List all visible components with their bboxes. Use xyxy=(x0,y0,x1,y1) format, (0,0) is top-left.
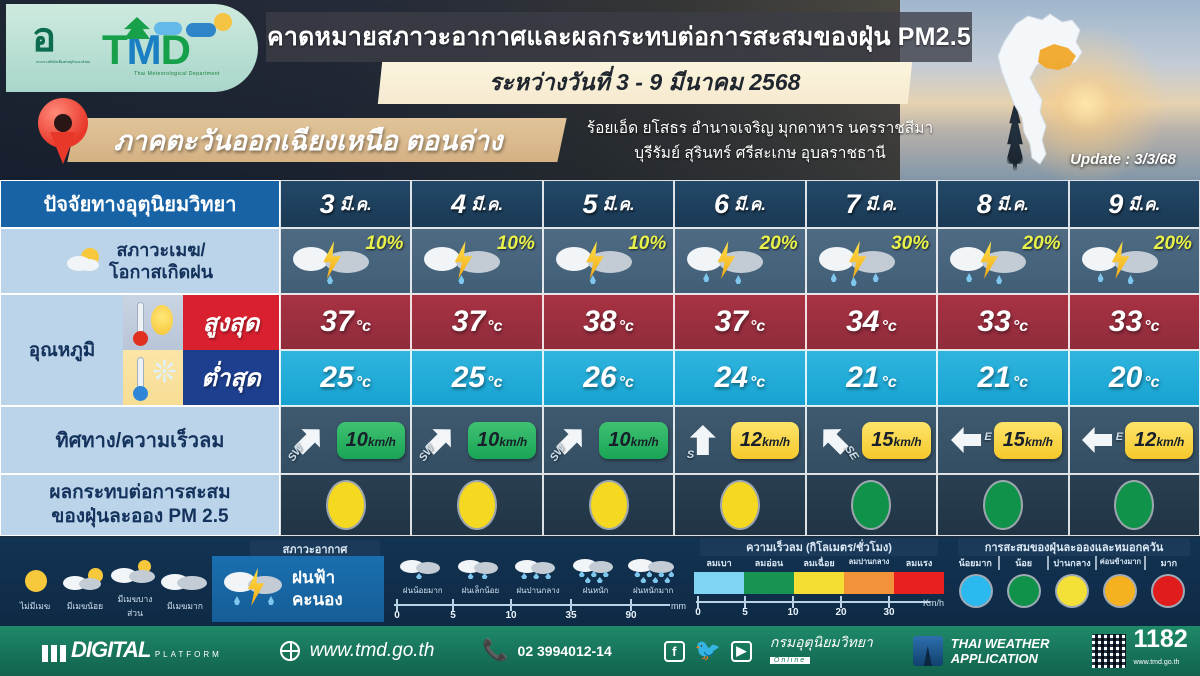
temp-min-value: 25 xyxy=(452,361,485,394)
date-range-text: ระหว่างวันที่ 3 - 9 มีนาคม 2568 xyxy=(489,65,800,101)
row-label-wind: ทิศทาง/ความเร็วลม xyxy=(0,406,280,474)
pm25-status-dot xyxy=(328,482,364,528)
wind-speed-badge: 10km/h xyxy=(468,422,536,459)
wind-speed-badge: 12km/h xyxy=(731,422,799,459)
rain-probability: 20% xyxy=(1023,233,1061,255)
phone-contact[interactable]: 📞 02 3994012-14 xyxy=(482,639,611,663)
pm25-cell xyxy=(806,474,937,536)
legend-item-partly-cloudy: มีเมฆบางส่วน xyxy=(111,559,159,620)
temp-min-cell: 26°c xyxy=(543,350,674,406)
temp-max-value: 37 xyxy=(452,305,485,338)
wind-direction-arrow-icon: E xyxy=(944,417,990,463)
pm25-status-dot xyxy=(591,482,627,528)
legend-item-rain-heavy: ฝนหนัก xyxy=(567,556,625,597)
weather-infographic: อ กระทรวงดิจิทัลเพื่อเศรษฐกิจและสังคม TM… xyxy=(0,0,1200,676)
temp-max-value: 37 xyxy=(320,305,353,338)
pm25-cell xyxy=(1069,474,1200,536)
wind-speed-badge: 15km/h xyxy=(862,422,930,459)
pm25-status-dot xyxy=(459,482,495,528)
day-month: มี.ค. xyxy=(471,191,503,218)
wind-tick: 30 xyxy=(883,607,894,618)
wind-direction-label: E xyxy=(1116,431,1123,443)
day-header-cell: 7มี.ค. xyxy=(806,180,937,228)
legend-item-clear: ไม่มีเมฆ xyxy=(11,566,59,613)
wind-direction-arrow-icon: E xyxy=(1075,417,1121,463)
row-label-cloud: สภาวะเมฆ/โอกาสเกิดฝน xyxy=(0,228,280,294)
rain-tick: 10 xyxy=(505,610,516,621)
temp-max-value: 34 xyxy=(846,305,879,338)
wind-direction-arrow-icon: SW xyxy=(418,417,464,463)
legend-wind-label: ลมเบา xyxy=(694,556,744,570)
bars-icon xyxy=(42,645,66,662)
legend-pm-label: ค่อนข้างมาก xyxy=(1095,556,1143,570)
temp-max-row: 37°c 37°c 38°c 37°c 34°c 33°c 33°c xyxy=(0,294,1200,350)
hotline-block: 1182www.tmd.go.th xyxy=(1092,627,1188,675)
pm25-cell xyxy=(280,474,411,536)
rain-probability: 20% xyxy=(1154,233,1192,255)
update-timestamp: Update : 3/3/68 xyxy=(1070,151,1176,168)
cloud-cell: 20% xyxy=(674,228,805,294)
wind-cell: S 12km/h xyxy=(674,406,805,474)
cloud-icon xyxy=(186,23,216,37)
temp-max-cell: 33°c xyxy=(937,294,1068,350)
app-name: THAI WEATHERAPPLICATION xyxy=(951,636,1050,666)
day-number: 7 xyxy=(845,189,860,220)
tmd-logo: TMD Thai Meteorological Department xyxy=(102,11,252,85)
header: อ กระทรวงดิจิทัลเพื่อเศรษฐกิจและสังคม TM… xyxy=(0,0,1200,180)
twitter-icon[interactable]: 🐦 xyxy=(695,639,721,663)
wind-cell: E 12km/h xyxy=(1069,406,1200,474)
rain-probability: 10% xyxy=(497,233,535,255)
ministry-logo-glyph: อ xyxy=(32,16,94,60)
sun-icon xyxy=(214,13,232,31)
day-header-cell: 5มี.ค. xyxy=(543,180,674,228)
rain-unit: mm xyxy=(671,601,686,611)
rain-probability: 10% xyxy=(365,233,403,255)
legend-pm-label: น้อยมาก xyxy=(952,556,998,570)
cloud-cell: 10% xyxy=(543,228,674,294)
row-label-pm25: ผลกระทบต่อการสะสมของฝุ่นละออง PM 2.5 xyxy=(0,474,280,536)
wind-scale-axis: 0 5 10 20 30 Km/h xyxy=(694,596,944,618)
day-number: 8 xyxy=(977,189,992,220)
forecast-table: ปัจจัยทางอุตุนิยมวิทยา 3มี.ค. 4มี.ค. 5มี… xyxy=(0,180,1200,538)
legend-thunderstorm: ฝนฟ้าคะนอง xyxy=(212,556,384,622)
province-line-1: ร้อยเอ็ด ยโสธร อำนาจเจริญ มุกดาหาร นครรา… xyxy=(560,116,960,141)
temp-max-cell: 34°c xyxy=(806,294,937,350)
temp-max-cell: 38°c xyxy=(543,294,674,350)
cloud-rain-icon xyxy=(624,556,682,582)
rain-tick: 35 xyxy=(565,610,576,621)
day-header-cell: 9มี.ค. xyxy=(1069,180,1200,228)
row-label-factor: ปัจจัยทางอุตุนิยมวิทยา xyxy=(0,180,280,228)
rain-probability: 20% xyxy=(760,233,798,255)
phone-icon: 📞 xyxy=(482,639,508,663)
day-month: มี.ค. xyxy=(603,191,635,218)
temp-max-cell: 33°c xyxy=(1069,294,1200,350)
legend-pm-dot xyxy=(1057,576,1087,606)
temp-max-value: 38 xyxy=(583,305,616,338)
pm25-status-dot xyxy=(1116,482,1152,528)
temp-max-value: 33 xyxy=(977,305,1010,338)
cloud-rain-icon xyxy=(567,556,625,582)
temp-min-value: 20 xyxy=(1109,361,1142,394)
cloud-rain-icon xyxy=(394,556,452,582)
digital-platform-text: DIGITAL xyxy=(71,637,150,662)
cloud-cell: 10% xyxy=(280,228,411,294)
rain-tick: 0 xyxy=(394,610,400,621)
cloud-rain-icon xyxy=(452,556,510,582)
temp-max-cell: 37°c xyxy=(674,294,805,350)
wind-direction-arrow-icon: SW xyxy=(549,417,595,463)
temp-min-value: 24 xyxy=(715,361,748,394)
temp-min-cell: 21°c xyxy=(806,350,937,406)
cloud-rain-icon xyxy=(509,556,567,582)
ministry-logo-subtext: กระทรวงดิจิทัลเพื่อเศรษฐกิจและสังคม xyxy=(32,60,94,65)
wind-cell: SW 10km/h xyxy=(543,406,674,474)
legend-caption-wind: ความเร็วลม (กิโลเมตร/ชั่วโมง) xyxy=(700,538,938,556)
legend-item-rain-veryheavy: ฝนหนักมาก xyxy=(624,556,682,597)
cloud-icon xyxy=(154,22,182,35)
pm25-status-dot xyxy=(722,482,758,528)
day-number: 6 xyxy=(714,189,729,220)
cloudy-icon xyxy=(161,566,209,596)
thailand-map-svg xyxy=(984,8,1104,168)
day-month: มี.ค. xyxy=(997,191,1029,218)
day-month: มี.ค. xyxy=(734,191,766,218)
pm25-status-dot xyxy=(853,482,889,528)
legend-pm-dot xyxy=(1153,576,1183,606)
legend-caption-pm25: การสะสมของฝุ่นละอองและหมอกควัน xyxy=(958,538,1190,556)
rain-probability: 30% xyxy=(891,233,929,255)
temp-min-cell: 21°c xyxy=(937,350,1068,406)
legend-item-cloudy: มีเมฆมาก xyxy=(161,566,209,613)
temp-min-cell: 25°c xyxy=(280,350,411,406)
temp-min-value: 26 xyxy=(583,361,616,394)
legend-wind-label: ลมอ่อน xyxy=(744,556,794,570)
legend-wind-scale: ลมเบา ลมอ่อน ลมเฉื่อย ลมปานกลาง ลมแรง 0 … xyxy=(694,556,944,622)
wind-direction-label: S xyxy=(687,449,694,461)
pm25-row: ผลกระทบต่อการสะสมของฝุ่นละออง PM 2.5 xyxy=(0,474,1200,536)
legend-wind-label: ลมปานกลาง xyxy=(844,556,894,570)
legend-wind-label: ลมแรง xyxy=(894,556,944,570)
wind-speed-badge: 10km/h xyxy=(337,422,405,459)
sun-icon xyxy=(11,566,59,596)
wind-speed-badge: 15km/h xyxy=(994,422,1062,459)
wind-tick: 5 xyxy=(742,607,748,618)
province-line-2: บุรีรัมย์ สุรินทร์ ศรีสะเกษ อุบลราชธานี xyxy=(560,141,960,166)
day-month: มี.ค. xyxy=(865,191,897,218)
phone-number: 02 3994012-14 xyxy=(518,643,612,659)
day-month: มี.ค. xyxy=(340,191,372,218)
temp-min-cell: 25°c xyxy=(411,350,542,406)
logo-pill: อ กระทรวงดิจิทัลเพื่อเศรษฐกิจและสังคม TM… xyxy=(6,4,258,92)
temp-min-value: 21 xyxy=(846,361,879,394)
cloud-cell: 20% xyxy=(1069,228,1200,294)
pm25-cell xyxy=(411,474,542,536)
wind-tick: 10 xyxy=(787,607,798,618)
youtube-icon[interactable]: ▶ xyxy=(731,641,752,662)
facebook-icon[interactable]: f xyxy=(664,641,685,662)
cloud-cell: 30% xyxy=(806,228,937,294)
wind-cell: SE 15km/h xyxy=(806,406,937,474)
legend-wind-label: ลมเฉื่อย xyxy=(794,556,844,570)
legend-pm-label: ปานกลาง xyxy=(1047,556,1095,570)
cloud-rain-row: สภาวะเมฆ/โอกาสเกิดฝน 10% 10% xyxy=(0,228,1200,294)
partly-cloudy-icon xyxy=(111,559,159,589)
thunderstorm-icon xyxy=(224,564,284,614)
row-label-cloud-text: สภาวะเมฆ/โอกาสเกิดฝน xyxy=(109,239,213,283)
legend-thunderstorm-label: ฝนฟ้าคะนอง xyxy=(292,567,343,611)
rain-probability: 10% xyxy=(628,233,666,255)
partly-cloudy-icon xyxy=(67,246,101,276)
temp-min-value: 25 xyxy=(320,361,353,394)
wind-tick: 0 xyxy=(695,607,701,618)
day-number: 9 xyxy=(1108,189,1123,220)
pm25-cell xyxy=(543,474,674,536)
legend-sky-conditions: ไม่มีเมฆ มีเมฆน้อย มีเมฆบางส่วน xyxy=(10,558,210,620)
wind-row: ทิศทาง/ความเร็วลม SW 10km/h SW 10km/h SW… xyxy=(0,406,1200,474)
wind-tick: 20 xyxy=(835,607,846,618)
globe-icon xyxy=(280,641,300,661)
wind-direction-label: E xyxy=(984,431,991,443)
day-number: 5 xyxy=(583,189,598,220)
legend-pm-dot xyxy=(961,576,991,606)
day-month: มี.ค. xyxy=(1128,191,1160,218)
tmd-online-label: กรมอุตุนิยมวิทยาOnline xyxy=(770,635,873,668)
wind-speed-badge: 10km/h xyxy=(599,422,667,459)
temp-min-value: 21 xyxy=(977,361,1010,394)
date-range-bar: ระหว่างวันที่ 3 - 9 มีนาคม 2568 xyxy=(378,62,912,104)
legend-item-rain-moderate: ฝนปานกลาง xyxy=(509,556,567,597)
legend-item-rain-light: ฝนเล็กน้อย xyxy=(452,556,510,597)
temp-max-value: 33 xyxy=(1109,305,1142,338)
wind-direction-label: SW xyxy=(285,442,305,463)
region-name: ภาคตะวันออกเฉียงเหนือ ตอนล่าง xyxy=(114,119,502,162)
page-title-bar: คาดหมายสภาวะอากาศและผลกระทบต่อการสะสมของ… xyxy=(266,12,972,62)
footer-bar: DIGITAL PLATFORM www.tmd.go.th 📞 02 3994… xyxy=(0,626,1200,676)
cloud-cell: 20% xyxy=(937,228,1068,294)
day-header-cell: 3มี.ค. xyxy=(280,180,411,228)
legend-rain-scale: ฝนน้อยมาก ฝนเล็กน้อย ฝนปานกลาง xyxy=(390,556,686,622)
province-list: ร้อยเอ็ด ยโสธร อำนาจเจริญ มุกดาหาร นครรา… xyxy=(560,116,960,172)
wind-unit: Km/h xyxy=(923,598,944,608)
wind-direction-arrow-icon: SE xyxy=(812,417,858,463)
day-header-cell: 8มี.ค. xyxy=(937,180,1068,228)
pm25-status-dot xyxy=(985,482,1021,528)
pm25-cell xyxy=(937,474,1068,536)
pm25-cell xyxy=(674,474,805,536)
rain-tick: 90 xyxy=(625,610,636,621)
wind-direction-arrow-icon: SW xyxy=(287,417,333,463)
legend-item-rain-verylight: ฝนน้อยมาก xyxy=(394,556,452,597)
legend-bar: สภาวะอากาศ ไม่มีเมฆ มีเมฆน้อย มีเมฆบางส่… xyxy=(0,538,1200,626)
ministry-logo: อ กระทรวงดิจิทัลเพื่อเศรษฐกิจและสังคม xyxy=(32,16,94,80)
temp-min-cell: 20°c xyxy=(1069,350,1200,406)
temp-max-cell: 37°c xyxy=(280,294,411,350)
location-pin-icon xyxy=(38,98,88,164)
legend-item-few-clouds: มีเมฆน้อย xyxy=(61,566,109,613)
wind-cell: SW 10km/h xyxy=(411,406,542,474)
sun-small-cloud-icon xyxy=(61,566,109,596)
wind-color-bars xyxy=(694,572,944,594)
qr-code-icon xyxy=(1092,634,1126,668)
legend-pm-label: น้อย xyxy=(998,556,1046,570)
legend-pm-label: มาก xyxy=(1144,556,1192,570)
app-icon xyxy=(913,636,943,666)
hotline-number: 1182www.tmd.go.th xyxy=(1134,627,1188,675)
table-header-row: ปัจจัยทางอุตุนิยมวิทยา 3มี.ค. 4มี.ค. 5มี… xyxy=(0,180,1200,228)
wind-speed-badge: 12km/h xyxy=(1125,422,1193,459)
tree-icon xyxy=(124,17,150,39)
rain-tick: 5 xyxy=(450,610,456,621)
thailand-map xyxy=(984,8,1104,168)
digital-platform-subtext: PLATFORM xyxy=(155,650,222,659)
day-header-cell: 4มี.ค. xyxy=(411,180,542,228)
legend-pm-dot xyxy=(1009,576,1039,606)
temp-min-row: 25°c 25°c 26°c 24°c 21°c 21°c 20°c xyxy=(0,350,1200,406)
day-header-cell: 6มี.ค. xyxy=(674,180,805,228)
cloud-cell: 10% xyxy=(411,228,542,294)
legend-pm-dot xyxy=(1105,576,1135,606)
website-link[interactable]: www.tmd.go.th xyxy=(280,640,435,662)
rain-scale-axis: 0 5 10 35 90 mm xyxy=(390,599,686,621)
wind-cell: SW 10km/h xyxy=(280,406,411,474)
wind-direction-arrow-icon: S xyxy=(681,417,727,463)
wind-cell: E 15km/h xyxy=(937,406,1068,474)
day-number: 3 xyxy=(320,189,335,220)
day-number: 4 xyxy=(451,189,466,220)
temp-max-cell: 37°c xyxy=(411,294,542,350)
thai-weather-app[interactable]: THAI WEATHERAPPLICATION xyxy=(913,636,1050,666)
temp-min-cell: 24°c xyxy=(674,350,805,406)
tmd-logo-decoration xyxy=(124,13,234,39)
website-url: www.tmd.go.th xyxy=(310,640,435,662)
legend-pm25-scale: น้อยมาก น้อย ปานกลาง ค่อนข้างมาก มาก xyxy=(952,556,1192,622)
region-ribbon: ภาคตะวันออกเฉียงเหนือ ตอนล่าง xyxy=(67,118,566,162)
temp-max-value: 37 xyxy=(715,305,748,338)
social-links[interactable]: f 🐦 ▶ กรมอุตุนิยมวิทยาOnline xyxy=(664,635,873,668)
page-title: คาดหมายสภาวะอากาศและผลกระทบต่อการสะสมของ… xyxy=(267,17,971,57)
digital-platform-logo: DIGITAL PLATFORM xyxy=(42,640,222,662)
